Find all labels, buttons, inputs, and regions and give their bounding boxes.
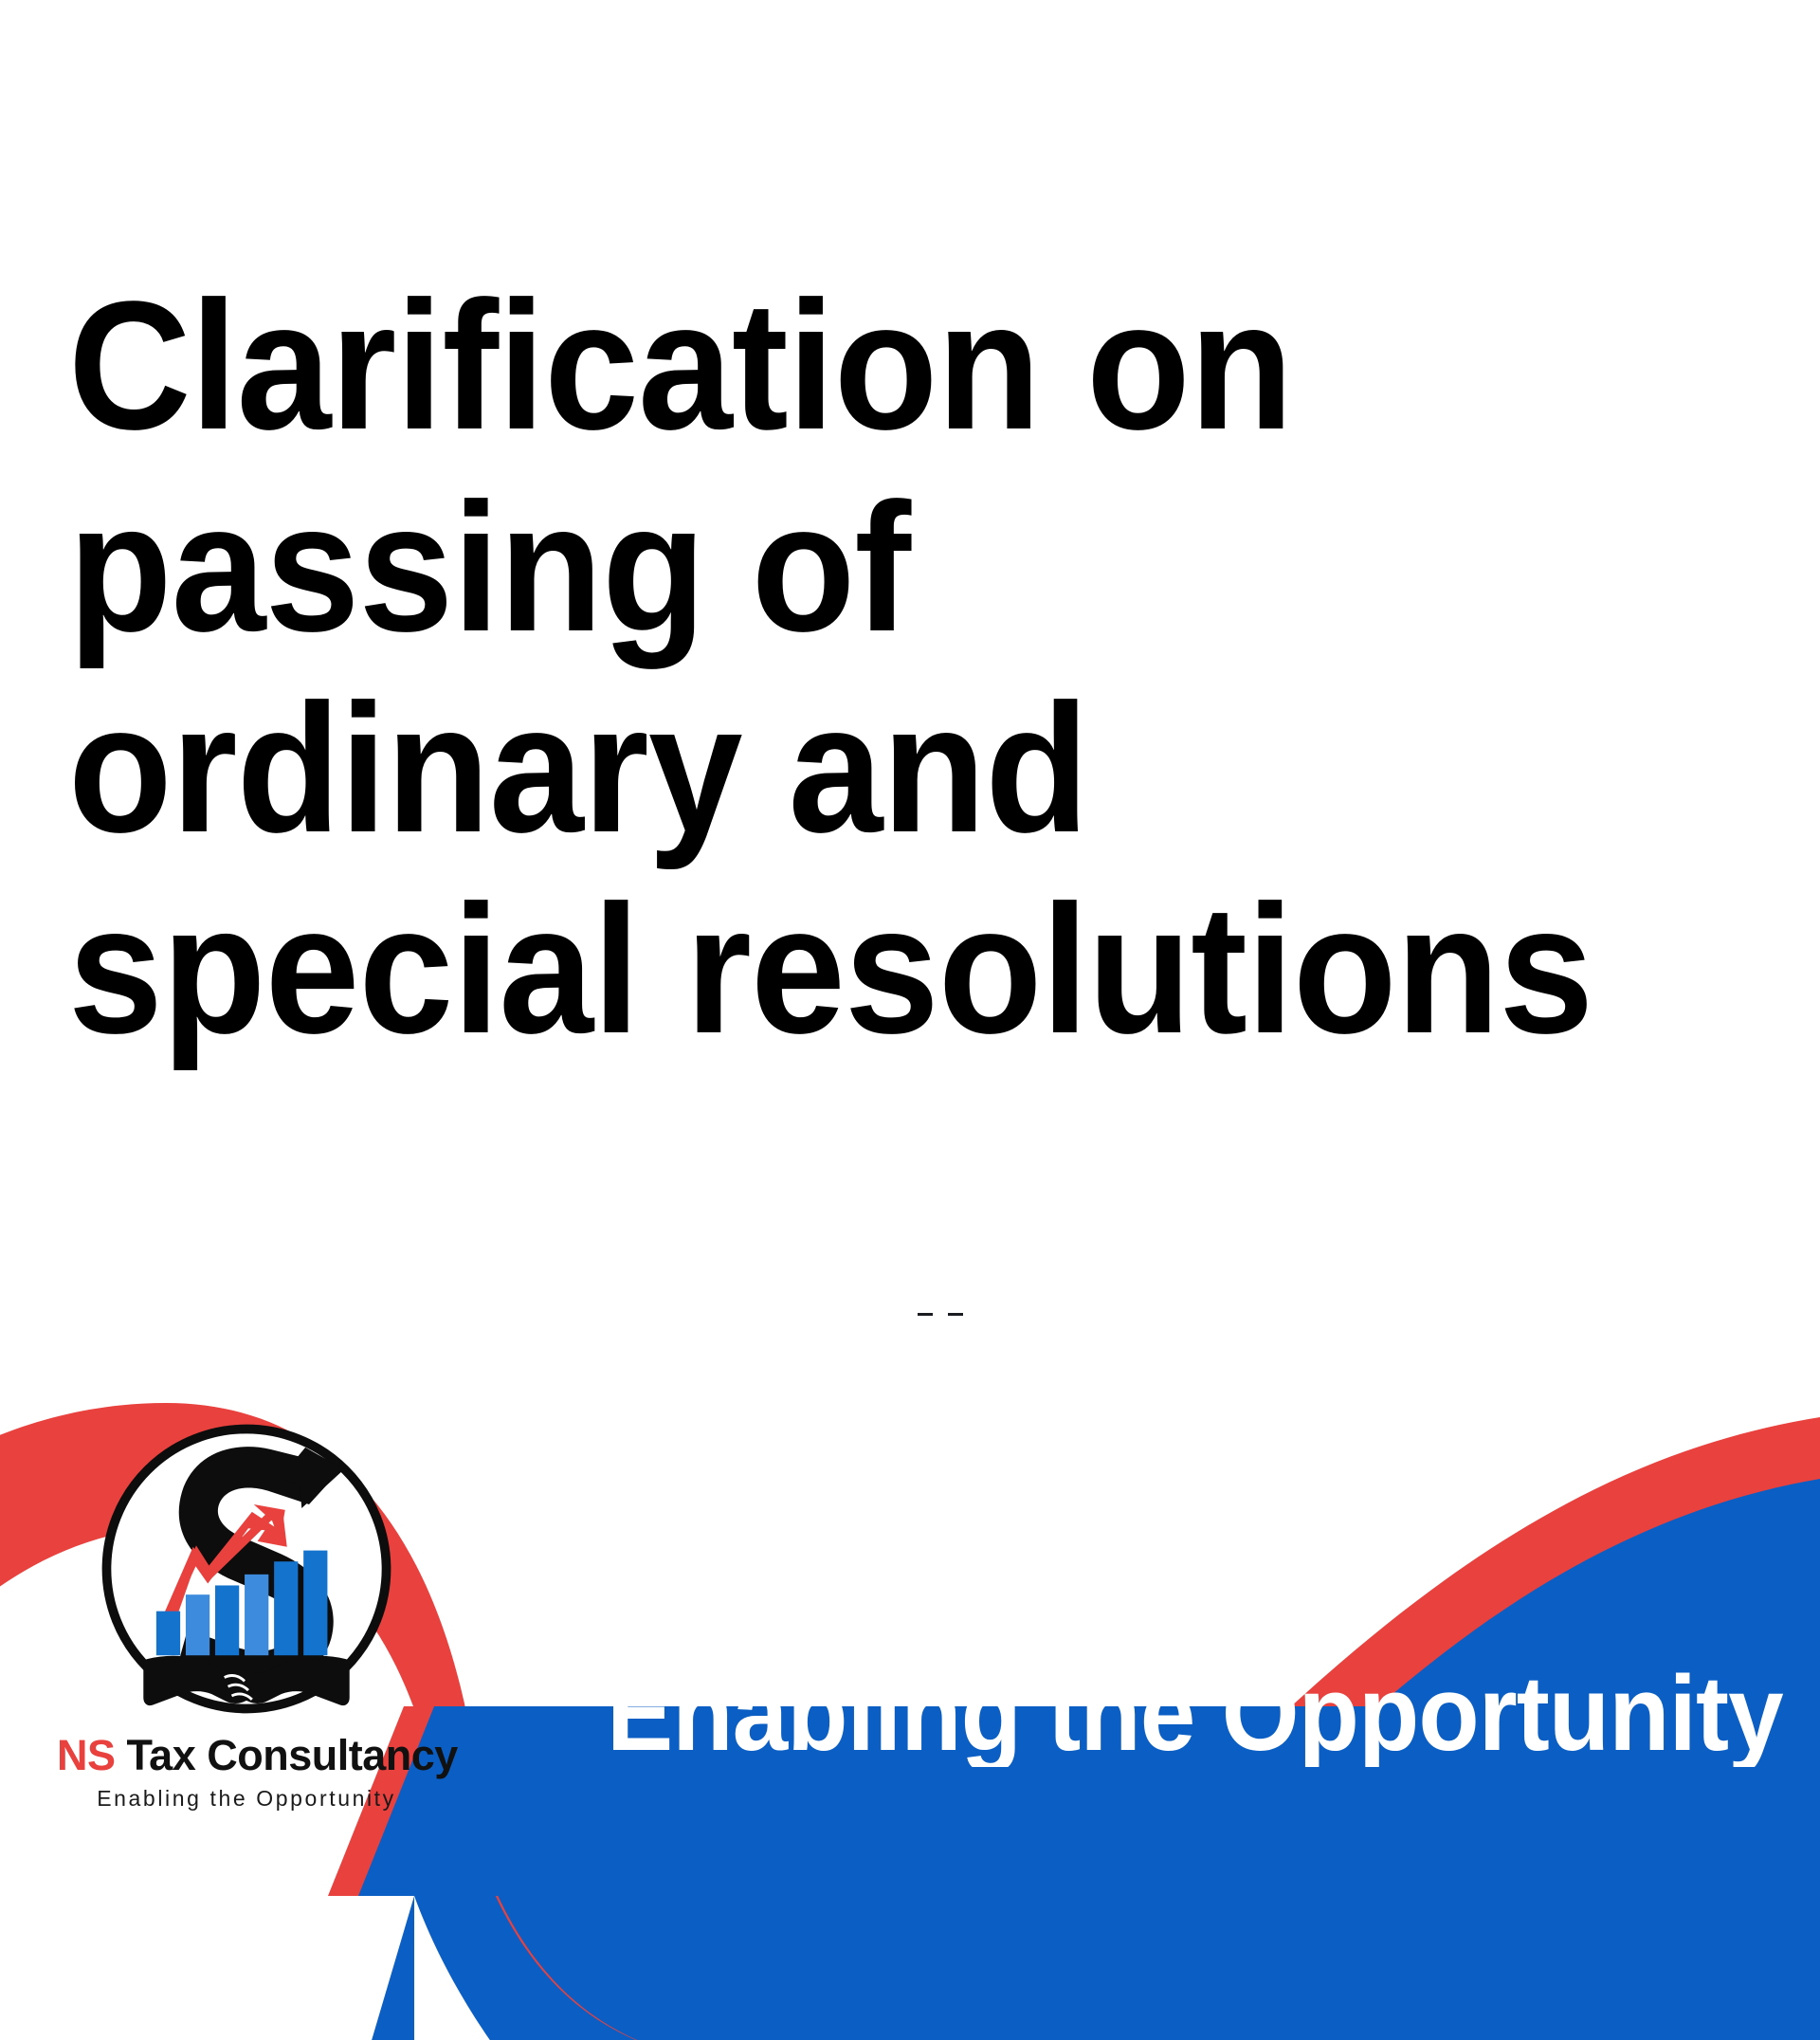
brand-wordmark: NS Tax Consultancy	[57, 1731, 436, 1780]
banner-slogan: Enabling the Opportunity	[607, 1661, 1820, 1767]
brand-logo-block: NS Tax Consultancy Enabling the Opportun…	[57, 1412, 436, 1812]
logo-bar-6	[303, 1551, 327, 1656]
logo-bar-1	[156, 1612, 180, 1656]
brand-wordmark-rest: Tax Consultancy	[116, 1731, 458, 1779]
brand-tagline: Enabling the Opportunity	[57, 1786, 436, 1812]
logo-bar-2	[186, 1594, 209, 1655]
logo-bar-3	[215, 1585, 239, 1655]
logo-bar-5	[274, 1561, 298, 1655]
poster-canvas: Clarification on passing of ordinary and…	[0, 0, 1820, 2040]
page-title: Clarification on passing of ordinary and…	[68, 264, 1655, 1069]
brand-wordmark-ns: NS	[57, 1731, 116, 1779]
logo-bar-4	[245, 1575, 268, 1655]
company-logo-icon	[90, 1412, 403, 1725]
